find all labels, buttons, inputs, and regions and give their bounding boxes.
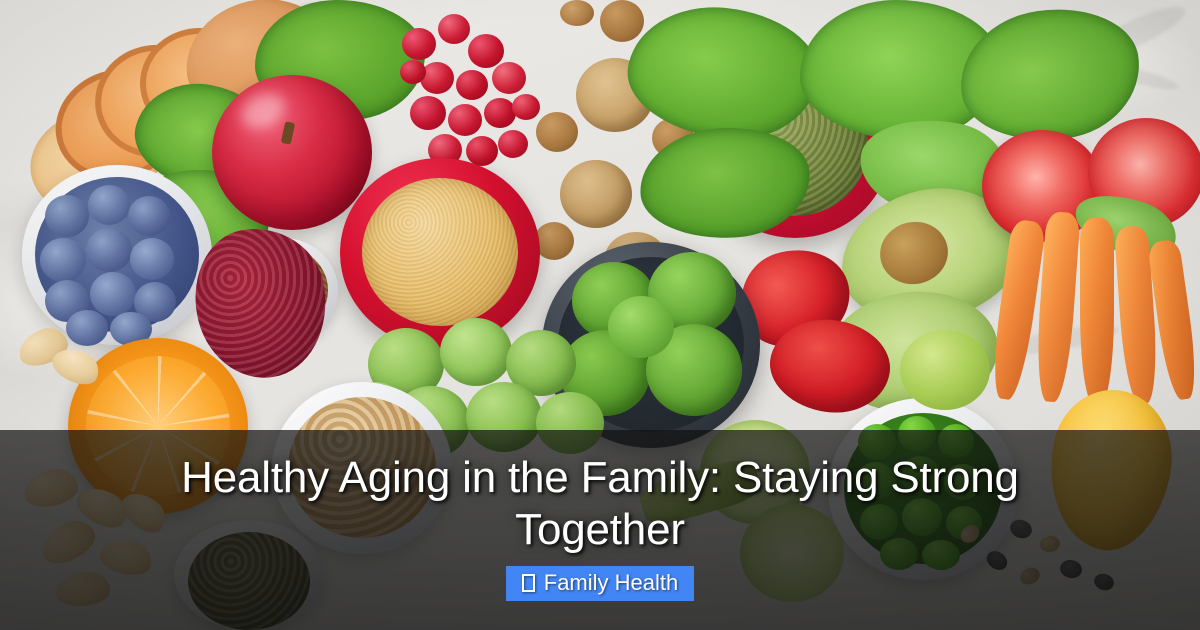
category-badge[interactable]: Family Health	[506, 566, 694, 601]
overlay-content: Healthy Aging in the Family: Staying Str…	[0, 430, 1200, 630]
social-share-card: Healthy Aging in the Family: Staying Str…	[0, 0, 1200, 630]
category-badge-label: Family Health	[544, 570, 678, 596]
missing-glyph-box-icon	[522, 574, 535, 592]
page-title: Healthy Aging in the Family: Staying Str…	[100, 452, 1100, 556]
